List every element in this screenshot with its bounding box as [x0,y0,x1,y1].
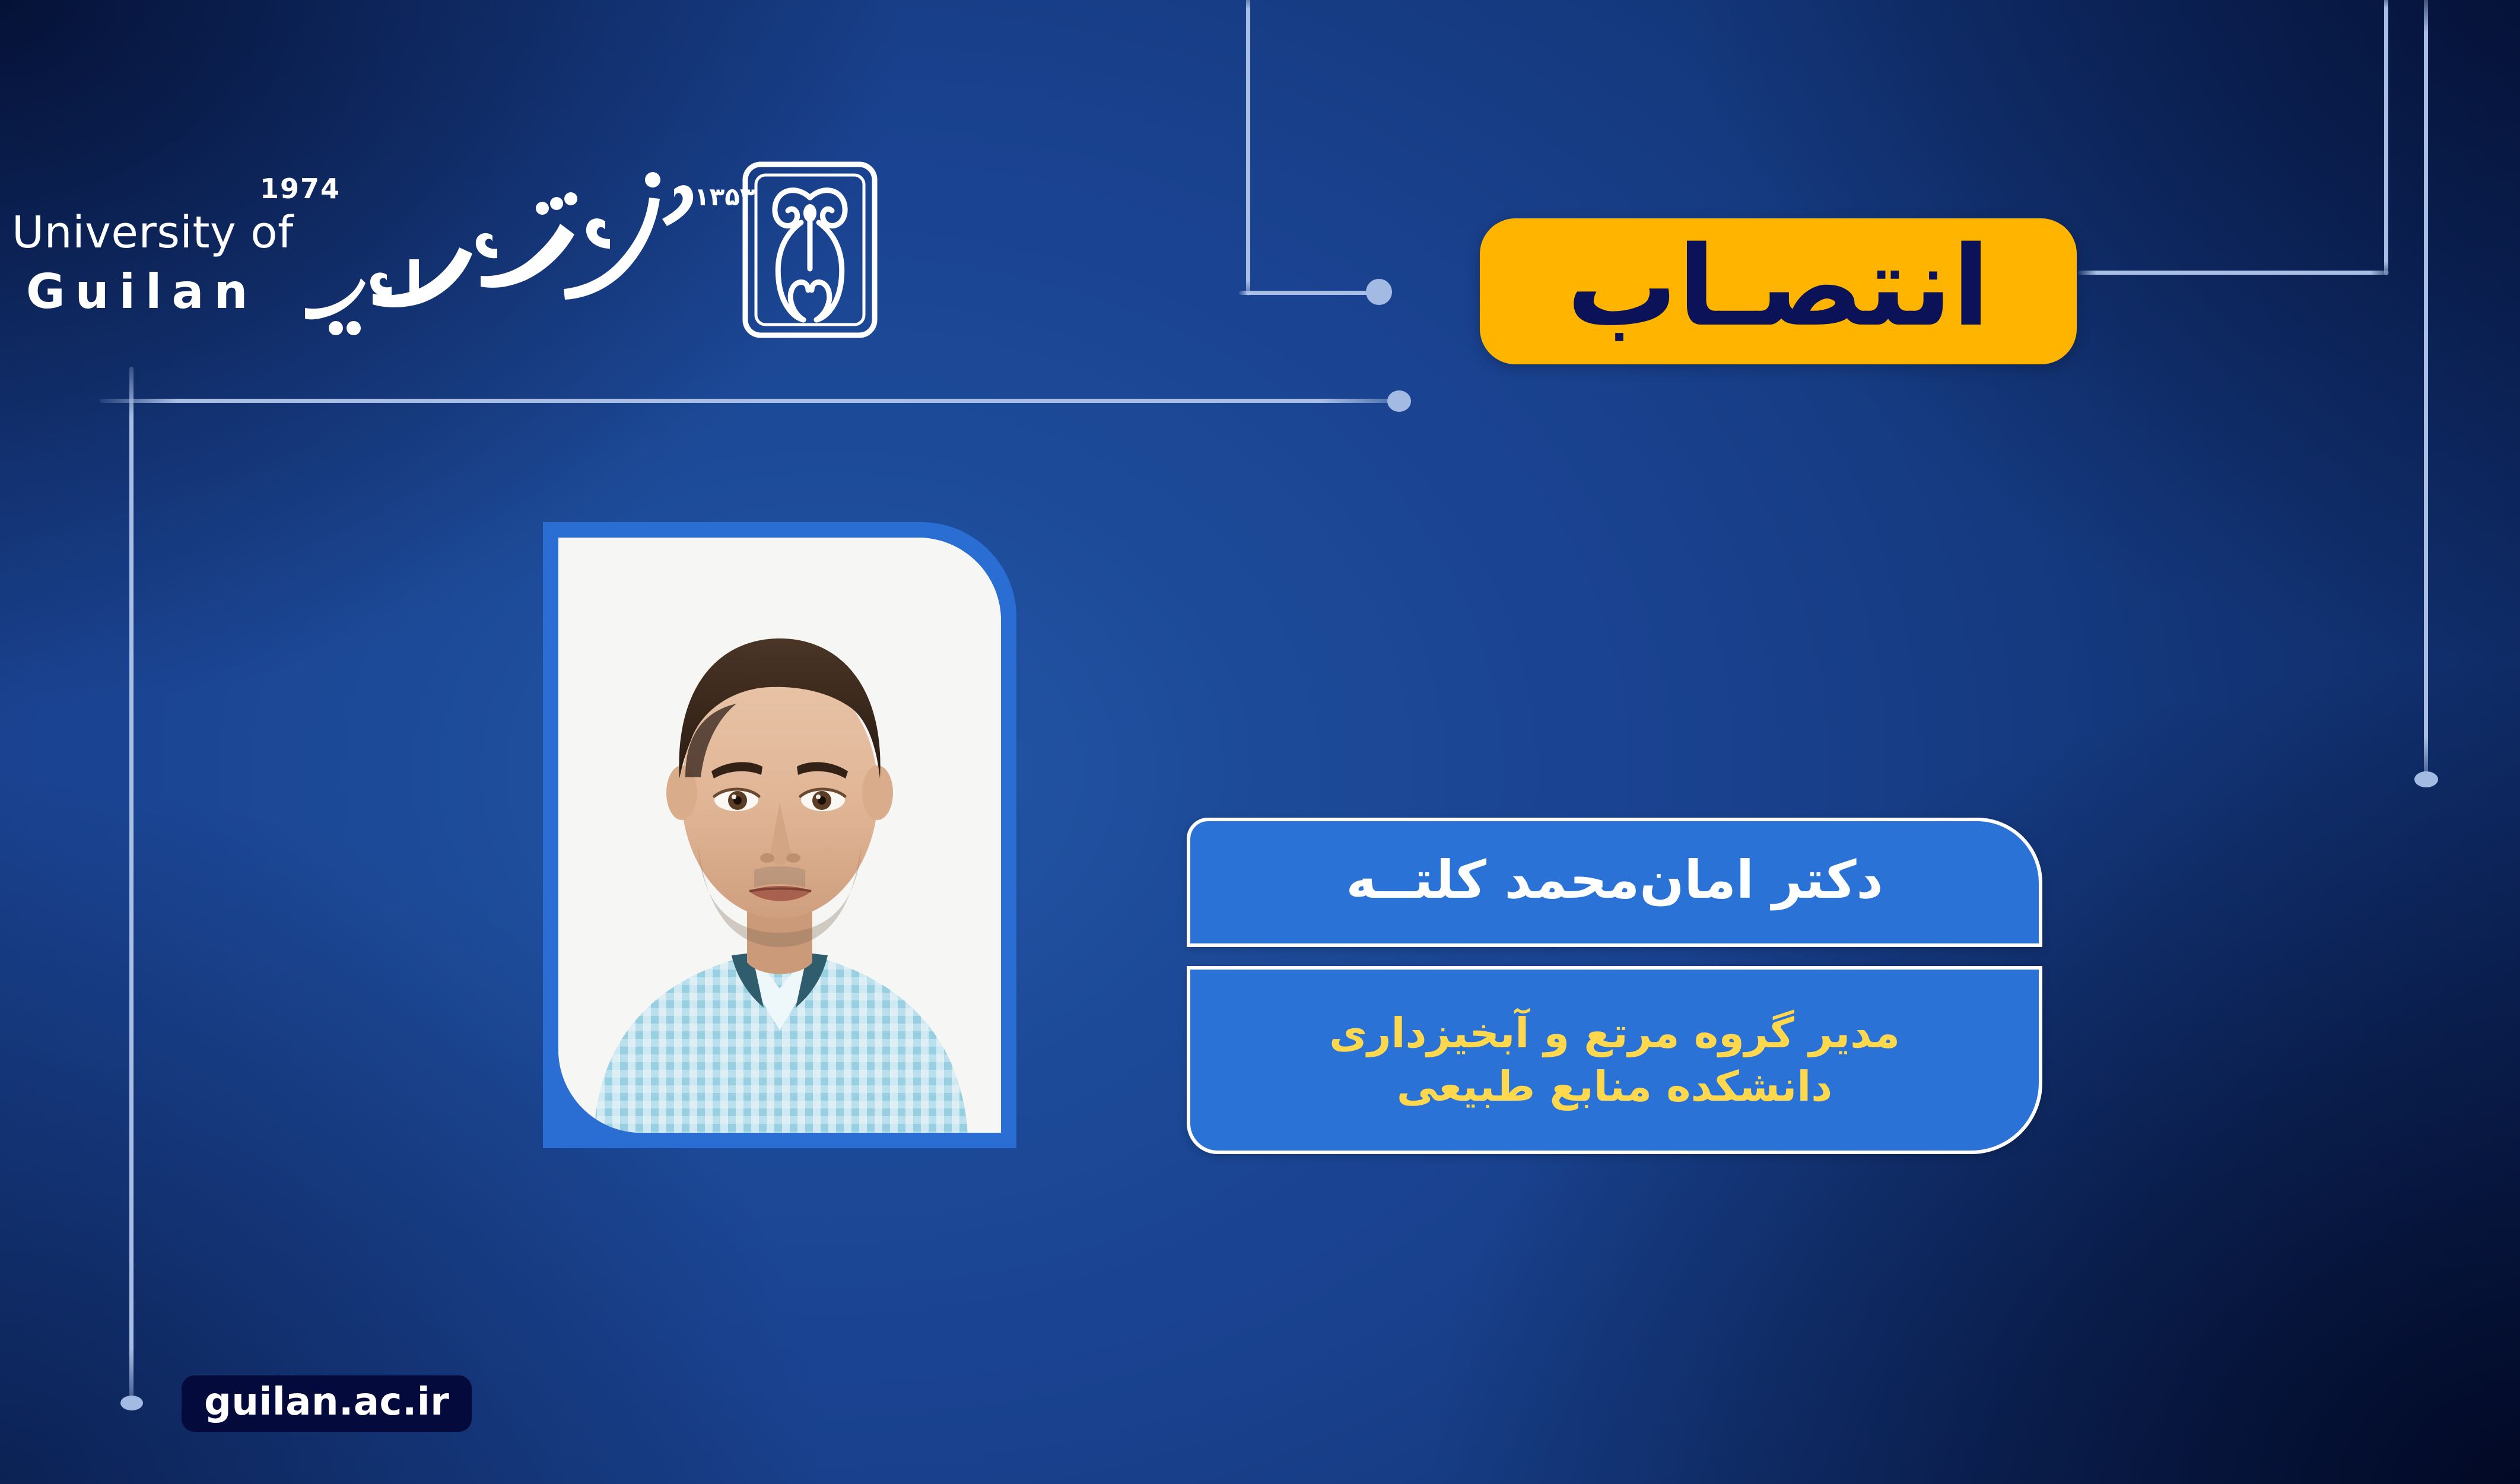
role-line-department: مدیر گروه مرتع و آبخیزداری [1329,1007,1900,1060]
logo-university-word: University of [12,208,344,258]
role-line-faculty: دانشکده منابع طبیعی [1397,1060,1832,1114]
decor-dot-logo-underline [1387,390,1411,412]
decor-dot-right [2414,771,2438,787]
portrait-frame [543,522,1016,1148]
decor-line-mid-vertical [1246,0,1250,295]
logo-english-lockup: 1974 University of Guilan [12,175,344,318]
decor-line-mid-horizontal [1239,291,1387,295]
headline-badge: انتصـاب [1480,218,2077,364]
decor-line-logo-underline [100,399,1399,403]
name-plate: دکتر امان‌محمد کلتــه [1187,818,2042,947]
decor-dot-left-bottom [120,1396,143,1410]
decor-line-right-l-vertical [2384,0,2388,275]
role-plate: مدیر گروه مرتع و آبخیزداری دانشکده منابع… [1187,966,2042,1154]
decor-dot-mid [1366,279,1392,305]
decor-line-left-vertical [129,367,134,1400]
website-badge[interactable]: guilan.ac.ir [182,1375,472,1432]
announcement-banner: 1974 University of Guilan [0,0,2520,1484]
portrait-photo [558,538,1001,1133]
decor-line-right-l-horizontal [2078,271,2389,275]
guilan-university-emblem-icon [742,161,878,339]
person-name: دکتر امان‌محمد کلتــه [1346,854,1883,906]
headline-label: انتصـاب [1566,231,1990,342]
website-url: guilan.ac.ir [204,1383,449,1421]
decor-line-right-vertical [2424,0,2428,776]
university-logo: 1974 University of Guilan [172,151,1222,365]
logo-name-persian [297,164,706,342]
